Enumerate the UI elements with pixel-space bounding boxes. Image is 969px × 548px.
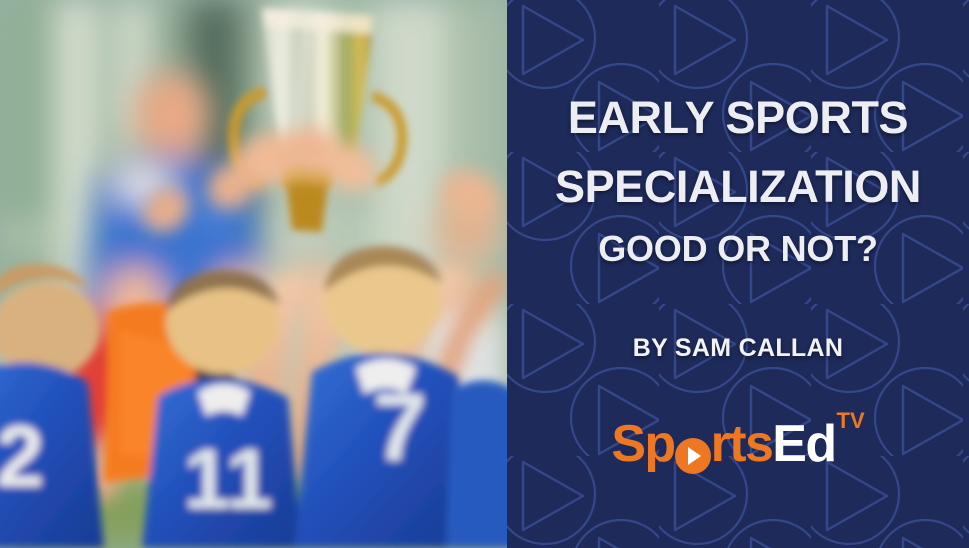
logo-text-rts: rts [711,418,773,470]
headline-subtitle: GOOD OR NOT? [598,231,878,267]
title-panel: EARLY SPORTS SPECIALIZATION GOOD OR NOT?… [507,0,969,548]
logo-text-ed: Ed [772,418,835,470]
author-byline: BY SAM CALLAN [633,336,843,361]
headline-line-1: EARLY SPORTS [568,95,908,140]
headline-line-2: SPECIALIZATION [555,164,921,209]
logo-text-sp: Sp [611,418,674,470]
article-banner: 2 11 7 [0,0,969,548]
logo-text-tv: TV [837,410,865,432]
play-circle-icon [675,438,711,474]
sportsedtv-logo[interactable]: Sp rts Ed TV [611,408,864,470]
panel-content: EARLY SPORTS SPECIALIZATION GOOD OR NOT?… [507,0,969,548]
hero-photo: 2 11 7 [0,0,507,548]
